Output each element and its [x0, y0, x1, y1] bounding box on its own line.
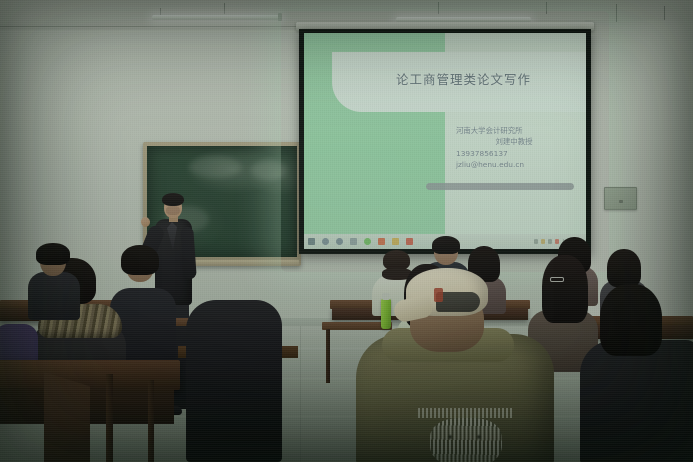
- slide-subtitle-line-1: 河南大学会计研究所: [454, 125, 574, 136]
- explorer-icon[interactable]: [350, 238, 357, 245]
- presenter-hand: [140, 216, 151, 227]
- slide-subtitle-line-4: jzliu@henu.edu.cn: [454, 159, 574, 170]
- start-icon[interactable]: [308, 238, 315, 245]
- student-beige-cap-olive-hoodie: [356, 268, 554, 462]
- slide-accent-bar: [426, 183, 574, 190]
- hoodie-skull-graphic: [430, 418, 502, 462]
- light-end-cap: [278, 13, 282, 21]
- projection-surface: 论工商管理类论文写作 河南大学会计研究所 刘建中教授 13937856137 j…: [304, 33, 586, 249]
- student-foreground-center-dark: [186, 300, 282, 462]
- network-icon[interactable]: [534, 239, 538, 244]
- taskbar-icon-group[interactable]: [308, 238, 413, 245]
- projector-screen: 论工商管理类论文写作 河南大学会计研究所 刘建中教授 13937856137 j…: [299, 29, 591, 254]
- desk-leg: [326, 329, 330, 383]
- wps-icon[interactable]: [378, 238, 385, 245]
- light-hanger-wire: [546, 2, 547, 14]
- light-hanger-wire: [664, 6, 665, 20]
- light-hanger-wire: [224, 3, 225, 14]
- folder-icon[interactable]: [392, 238, 399, 245]
- wechat-icon[interactable]: [364, 238, 371, 245]
- light-hanger-wire: [616, 4, 617, 22]
- desk-leg: [106, 374, 113, 462]
- light-hanger-wire: [438, 2, 439, 14]
- slide-subtitle-line-2: 刘建中教授: [454, 136, 574, 147]
- task-view-icon[interactable]: [336, 238, 343, 245]
- foreground-desk-side: [44, 372, 90, 462]
- student-front-row-left: [28, 246, 80, 316]
- search-icon[interactable]: [322, 238, 329, 245]
- cap-red-accent: [434, 288, 443, 302]
- slide-title: 论工商管理类论文写作: [356, 69, 571, 88]
- desk-leg: [148, 380, 154, 462]
- hoodie-print-text: [418, 408, 514, 418]
- fluorescent-tube-left: [152, 15, 282, 20]
- classroom-photo: 论工商管理类论文写作 河南大学会计研究所 刘建中教授 13937856137 j…: [0, 0, 693, 462]
- slide-subtitle-line-3: 13937856137: [454, 148, 574, 159]
- volume-icon[interactable]: [541, 239, 545, 244]
- pdf-icon[interactable]: [406, 238, 413, 245]
- slide-subtitle: 河南大学会计研究所 刘建中教授 13937856137 jzliu@henu.e…: [454, 125, 574, 171]
- student-foreground-right: [580, 280, 693, 462]
- presentation-slide: 论工商管理类论文写作 河南大学会计研究所 刘建中教授 13937856137 j…: [304, 33, 586, 249]
- wall-control-panel: [604, 187, 637, 210]
